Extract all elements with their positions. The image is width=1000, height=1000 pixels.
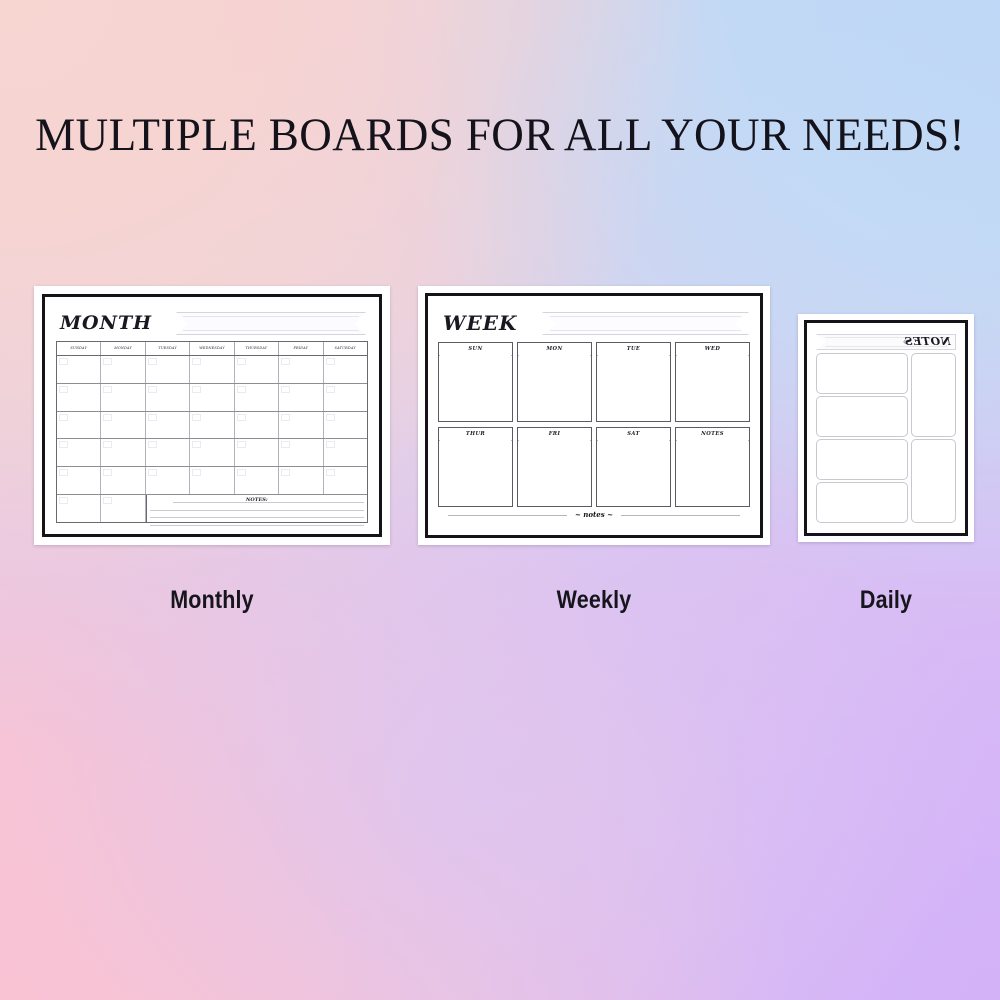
board-weekly[interactable]: WEEK SUN MON <box>418 286 770 545</box>
daily-right-column <box>911 353 956 523</box>
monthly-date-box <box>148 441 157 448</box>
monthly-day-cell[interactable] <box>190 384 234 411</box>
monthly-header: MONTH <box>56 308 368 339</box>
monthly-day-cell[interactable] <box>101 495 145 522</box>
monthly-day-cell[interactable] <box>324 412 367 439</box>
monthly-notes-rule <box>150 511 364 519</box>
monthly-date-box <box>59 441 68 448</box>
monthly-date-box <box>59 469 68 476</box>
monthly-week-row <box>57 412 367 440</box>
monthly-day-cell[interactable] <box>57 467 101 494</box>
monthly-dayname-friday: FRIDAY <box>279 342 323 355</box>
daily-notes-label: NOTES <box>904 334 951 350</box>
monthly-day-cell[interactable] <box>146 439 190 466</box>
monthly-date-box <box>103 441 112 448</box>
caption-row: Monthly Weekly Daily <box>0 586 1000 626</box>
weekly-cell-label: SAT <box>597 428 670 441</box>
monthly-week-row <box>57 439 367 467</box>
board-monthly[interactable]: MONTH SUNDAY MONDAY TUESDAY WEDNESDAY TH… <box>34 286 390 545</box>
monthly-day-cell[interactable] <box>146 467 190 494</box>
monthly-day-cell[interactable] <box>279 439 323 466</box>
monthly-date-box <box>103 469 112 476</box>
daily-box[interactable] <box>816 353 908 394</box>
monthly-day-cell[interactable] <box>235 412 279 439</box>
monthly-day-cell[interactable] <box>279 356 323 383</box>
daily-box[interactable] <box>816 396 908 437</box>
monthly-notes-rule <box>150 518 364 526</box>
monthly-dayname-tuesday: TUESDAY <box>146 342 190 355</box>
monthly-date-box <box>192 386 201 393</box>
daily-body <box>816 353 956 523</box>
monthly-weeks: NOTES: <box>57 356 367 522</box>
weekly-title-banner[interactable] <box>542 312 749 335</box>
monthly-day-cell[interactable] <box>324 384 367 411</box>
monthly-date-box <box>192 358 201 365</box>
monthly-date-box <box>148 386 157 393</box>
monthly-date-box <box>281 358 290 365</box>
monthly-title-banner[interactable] <box>176 312 366 335</box>
weekly-cell-label: FRI <box>518 428 591 441</box>
weekly-row-top: SUN MON TUE <box>438 342 750 422</box>
poster-canvas: MULTIPLE BOARDS FOR ALL YOUR NEEDS! MONT… <box>0 0 1000 1000</box>
weekly-bezel: WEEK SUN MON <box>425 293 763 538</box>
monthly-date-box <box>103 358 112 365</box>
monthly-day-cell[interactable] <box>146 384 190 411</box>
monthly-day-cell[interactable] <box>57 439 101 466</box>
caption-daily: Daily <box>810 586 961 615</box>
weekly-frame: WEEK SUN MON <box>418 286 770 545</box>
weekly-cell-label: MON <box>518 343 591 356</box>
monthly-content: MONTH SUNDAY MONDAY TUESDAY WEDNESDAY TH… <box>56 308 368 523</box>
caption-monthly: Monthly <box>59 586 365 615</box>
daily-box[interactable] <box>816 482 908 523</box>
weekly-cell-sat[interactable]: SAT <box>596 427 671 507</box>
monthly-date-box <box>281 386 290 393</box>
monthly-dayname-wednesday: WEDNESDAY <box>190 342 234 355</box>
monthly-day-cell[interactable] <box>235 439 279 466</box>
monthly-title: MONTH <box>60 309 152 337</box>
board-rack: MONTH SUNDAY MONDAY TUESDAY WEDNESDAY TH… <box>0 286 1000 636</box>
daily-header: « NOTES <box>816 332 956 352</box>
monthly-date-box <box>192 469 201 476</box>
monthly-notes-rule <box>150 503 364 511</box>
weekly-cell-tue[interactable]: TUE <box>596 342 671 422</box>
weekly-cell-thur[interactable]: THUR <box>438 427 513 507</box>
monthly-dayname-sunday: SUNDAY <box>57 342 101 355</box>
monthly-day-cell[interactable] <box>57 495 101 522</box>
monthly-date-box <box>237 358 246 365</box>
monthly-date-box <box>103 497 112 504</box>
monthly-day-cell[interactable] <box>190 412 234 439</box>
monthly-bezel: MONTH SUNDAY MONDAY TUESDAY WEDNESDAY TH… <box>42 294 382 537</box>
monthly-day-cell[interactable] <box>235 356 279 383</box>
flourish-icon: ~ notes ~ <box>567 508 621 523</box>
monthly-week-row-last: NOTES: <box>57 495 367 522</box>
monthly-date-box <box>326 414 335 421</box>
monthly-frame: MONTH SUNDAY MONDAY TUESDAY WEDNESDAY TH… <box>34 286 390 545</box>
monthly-day-cell[interactable] <box>235 467 279 494</box>
weekly-cell-mon[interactable]: MON <box>517 342 592 422</box>
caption-monthly-wrap: Monthly <box>34 586 390 615</box>
monthly-day-cell[interactable] <box>190 439 234 466</box>
monthly-date-box <box>59 358 68 365</box>
monthly-dayname-thursday: THURSDAY <box>235 342 279 355</box>
daily-frame: « NOTES <box>798 314 974 542</box>
monthly-date-box <box>59 386 68 393</box>
monthly-day-cell[interactable] <box>101 384 145 411</box>
weekly-title: WEEK <box>443 308 517 338</box>
monthly-week-row <box>57 384 367 412</box>
monthly-week-row <box>57 356 367 384</box>
monthly-date-box <box>326 358 335 365</box>
caption-daily-wrap: Daily <box>798 586 974 615</box>
monthly-day-cell[interactable] <box>101 467 145 494</box>
weekly-footer: ~ notes ~ <box>440 508 748 523</box>
weekly-grid: SUN MON TUE <box>438 342 750 507</box>
monthly-day-cell[interactable] <box>101 439 145 466</box>
monthly-day-cell[interactable] <box>101 356 145 383</box>
daily-box[interactable] <box>816 439 908 480</box>
monthly-date-box <box>148 358 157 365</box>
monthly-day-cell[interactable] <box>279 467 323 494</box>
weekly-cell-label: SUN <box>439 343 512 356</box>
monthly-day-cell[interactable] <box>57 412 101 439</box>
page-title: MULTIPLE BOARDS FOR ALL YOUR NEEDS! <box>20 108 980 162</box>
weekly-cell-fri[interactable]: FRI <box>517 427 592 507</box>
monthly-date-box <box>237 414 246 421</box>
monthly-date-box <box>148 414 157 421</box>
weekly-content: WEEK SUN MON <box>438 306 750 525</box>
caption-weekly: Weekly <box>443 586 746 615</box>
daily-left-column <box>816 353 908 523</box>
monthly-date-box <box>192 414 201 421</box>
monthly-date-box <box>103 414 112 421</box>
monthly-grid: SUNDAY MONDAY TUESDAY WEDNESDAY THURSDAY… <box>56 341 368 523</box>
weekly-cell-label: TUE <box>597 343 670 356</box>
monthly-date-box <box>148 469 157 476</box>
daily-box[interactable] <box>911 439 956 523</box>
monthly-date-box <box>326 386 335 393</box>
monthly-day-cell[interactable] <box>57 384 101 411</box>
monthly-day-cell[interactable] <box>146 356 190 383</box>
daily-bezel: « NOTES <box>804 320 968 536</box>
monthly-daynames-row: SUNDAY MONDAY TUESDAY WEDNESDAY THURSDAY… <box>57 342 367 356</box>
monthly-day-cell[interactable] <box>324 356 367 383</box>
monthly-day-cell[interactable] <box>101 412 145 439</box>
weekly-header: WEEK <box>438 306 750 340</box>
monthly-day-cell[interactable] <box>57 356 101 383</box>
weekly-cell-label: THUR <box>439 428 512 441</box>
monthly-dayname-saturday: SATURDAY <box>324 342 367 355</box>
weekly-cell-notes[interactable]: NOTES <box>675 427 750 507</box>
weekly-cell-label: WED <box>676 343 749 356</box>
monthly-date-box <box>326 469 335 476</box>
monthly-day-cell[interactable] <box>235 384 279 411</box>
monthly-date-box <box>59 497 68 504</box>
monthly-date-box <box>281 441 290 448</box>
caption-weekly-wrap: Weekly <box>418 586 770 615</box>
monthly-date-box <box>281 414 290 421</box>
monthly-date-box <box>237 386 246 393</box>
monthly-day-cell[interactable] <box>279 384 323 411</box>
monthly-date-box <box>192 441 201 448</box>
monthly-notes-section[interactable]: NOTES: <box>146 495 367 522</box>
monthly-date-box <box>237 469 246 476</box>
monthly-notes-rule <box>173 502 364 503</box>
monthly-date-box <box>237 441 246 448</box>
weekly-row-bottom: THUR FRI SAT <box>438 427 750 507</box>
weekly-cell-label: NOTES <box>676 428 749 441</box>
weekly-cell-wed[interactable]: WED <box>675 342 750 422</box>
monthly-day-cell[interactable] <box>279 412 323 439</box>
monthly-day-cell[interactable] <box>190 356 234 383</box>
monthly-date-box <box>281 469 290 476</box>
daily-content: « NOTES <box>816 332 956 524</box>
monthly-day-cell[interactable] <box>324 439 367 466</box>
monthly-day-cell[interactable] <box>324 467 367 494</box>
monthly-date-box <box>326 441 335 448</box>
monthly-week-row <box>57 467 367 495</box>
monthly-dayname-monday: MONDAY <box>101 342 145 355</box>
weekly-cell-sun[interactable]: SUN <box>438 342 513 422</box>
daily-box[interactable] <box>911 353 956 437</box>
monthly-date-box <box>103 386 112 393</box>
monthly-day-cell[interactable] <box>190 467 234 494</box>
monthly-day-cell[interactable] <box>146 412 190 439</box>
board-daily[interactable]: « NOTES <box>798 314 974 542</box>
monthly-date-box <box>59 414 68 421</box>
